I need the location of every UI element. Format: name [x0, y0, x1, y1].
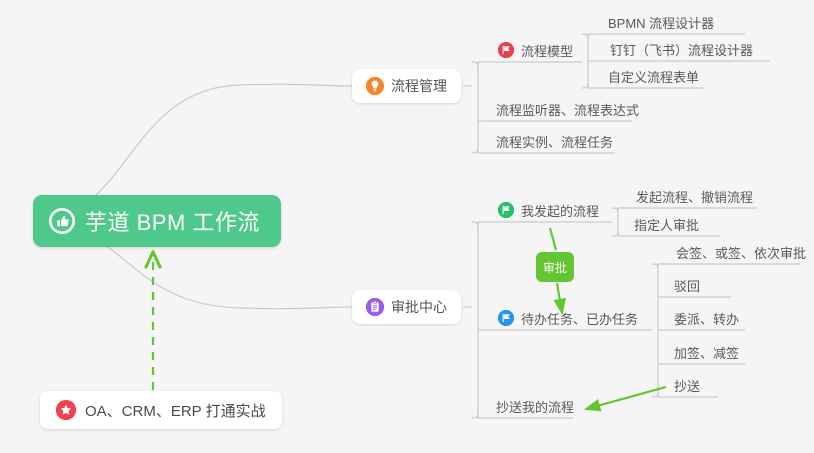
- node-bpmn-designer[interactable]: BPMN 流程设计器: [602, 9, 720, 35]
- node-label: 加签、减签: [674, 343, 739, 362]
- node-cc[interactable]: 抄送: [668, 372, 706, 398]
- node-listener-expression[interactable]: 流程监听器、流程表达式: [490, 96, 645, 122]
- branch-label: 审批中心: [391, 297, 447, 317]
- node-label: 流程模型: [521, 41, 573, 60]
- approval-tag-label: 审批: [543, 259, 567, 276]
- node-label: 委派、转办: [674, 309, 739, 328]
- note-card[interactable]: OA、CRM、ERP 打通实战: [40, 391, 282, 429]
- node-start-cancel[interactable]: 发起流程、撤销流程: [630, 183, 759, 209]
- node-label: 钉钉（飞书）流程设计器: [610, 40, 753, 59]
- node-label: 我发起的流程: [521, 201, 599, 220]
- node-delegate-transfer[interactable]: 委派、转办: [668, 305, 745, 331]
- flag-icon: [498, 202, 514, 218]
- node-label: 指定人审批: [634, 215, 699, 234]
- node-assignee-approval[interactable]: 指定人审批: [628, 211, 705, 237]
- node-my-initiated[interactable]: 我发起的流程: [492, 197, 605, 223]
- node-label: 流程监听器、流程表达式: [496, 100, 639, 119]
- mindmap-canvas: 芋道 BPM 工作流 流程管理 流程模型 BPMN 流程设计器 钉钉（飞书: [0, 0, 814, 453]
- node-dingtalk-feishu-designer[interactable]: 钉钉（飞书）流程设计器: [604, 36, 759, 62]
- node-label: 发起流程、撤销流程: [636, 187, 753, 206]
- node-label: 驳回: [674, 276, 700, 295]
- note-label: OA、CRM、ERP 打通实战: [85, 400, 266, 421]
- lightbulb-icon: [366, 77, 384, 95]
- node-countersign[interactable]: 会签、或签、依次审批: [670, 239, 812, 265]
- node-reject[interactable]: 驳回: [668, 272, 706, 298]
- clipboard-icon: [366, 298, 384, 316]
- star-icon: [56, 400, 76, 420]
- flag-icon: [498, 42, 514, 58]
- node-process-model[interactable]: 流程模型: [492, 37, 579, 63]
- node-label: 抄送: [674, 376, 700, 395]
- branch-label: 流程管理: [391, 76, 447, 96]
- node-add-remove-sign[interactable]: 加签、减签: [668, 339, 745, 365]
- flag-icon: [498, 310, 514, 326]
- node-label: 自定义流程表单: [608, 67, 699, 86]
- root-label: 芋道 BPM 工作流: [85, 205, 260, 237]
- node-instance-task[interactable]: 流程实例、流程任务: [490, 128, 619, 154]
- branch-approval-center[interactable]: 审批中心: [352, 290, 461, 324]
- branch-process-management[interactable]: 流程管理: [352, 69, 461, 103]
- thumbs-up-icon: [49, 208, 75, 234]
- node-todo-done[interactable]: 待办任务、已办任务: [492, 305, 644, 331]
- node-custom-process-form[interactable]: 自定义流程表单: [602, 63, 705, 89]
- node-label: 会签、或签、依次审批: [676, 243, 806, 262]
- node-cc-to-me[interactable]: 抄送我的流程: [490, 393, 580, 419]
- node-label: 流程实例、流程任务: [496, 132, 613, 151]
- node-label: BPMN 流程设计器: [608, 13, 714, 32]
- root-node[interactable]: 芋道 BPM 工作流: [33, 195, 281, 247]
- approval-tag[interactable]: 审批: [536, 252, 574, 282]
- node-label: 抄送我的流程: [496, 397, 574, 416]
- node-label: 待办任务、已办任务: [521, 309, 638, 328]
